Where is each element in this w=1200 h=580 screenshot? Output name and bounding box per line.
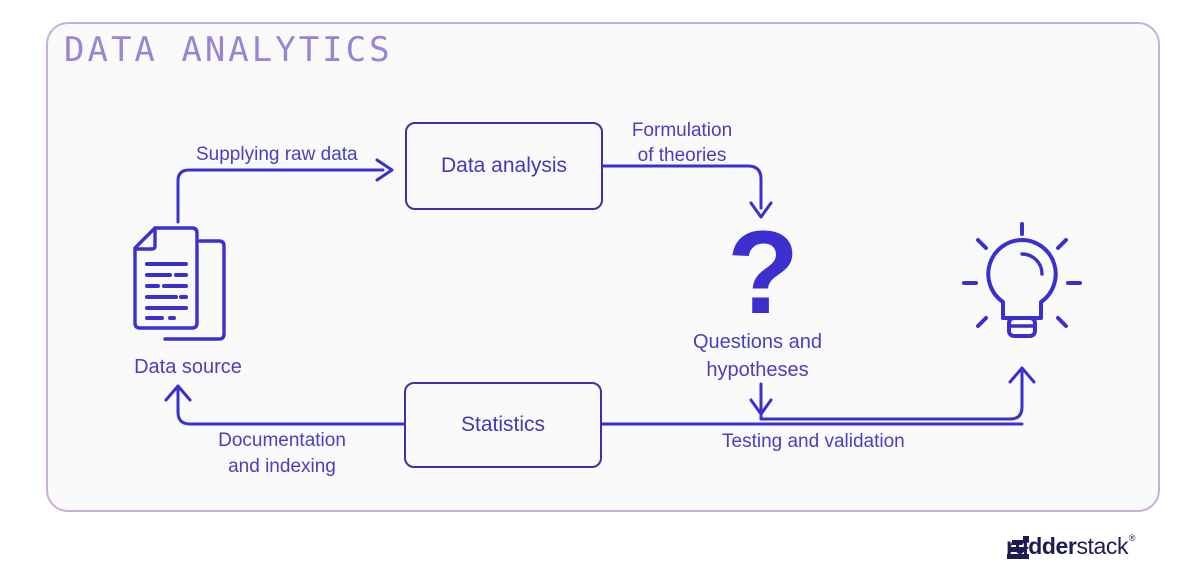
rudderstack-wordmark: rudderstack® [1006,533,1128,560]
trademark-symbol: ® [1129,533,1135,543]
edge-label-documentation-and-indexing: Documentation and indexing [196,428,368,480]
rudderstack-logo[interactable]: rudderstack® [1006,533,1128,560]
page-title: DATA ANALYTICS [64,33,393,67]
node-data-analysis-label: Data analysis [441,154,567,178]
node-data-analysis[interactable]: Data analysis [405,122,603,210]
edge-label-formulation-of-theories: Formulation of theories [615,118,749,168]
edge-label-testing-and-validation: Testing and validation [722,429,905,454]
edge-label-supplying-raw-data: Supplying raw data [196,142,358,167]
question-mark-icon: ? [718,218,808,328]
node-statistics[interactable]: Statistics [404,382,602,468]
diagram-canvas: DATA ANALYTICS [0,0,1200,580]
logo-word-light: stack [1076,533,1128,559]
node-label-questions-and-hypotheses: Questions and hypotheses [660,328,855,384]
node-statistics-label: Statistics [461,413,545,437]
node-label-data-source: Data source [110,355,266,380]
logo-word-bold: rudder [1006,533,1076,559]
